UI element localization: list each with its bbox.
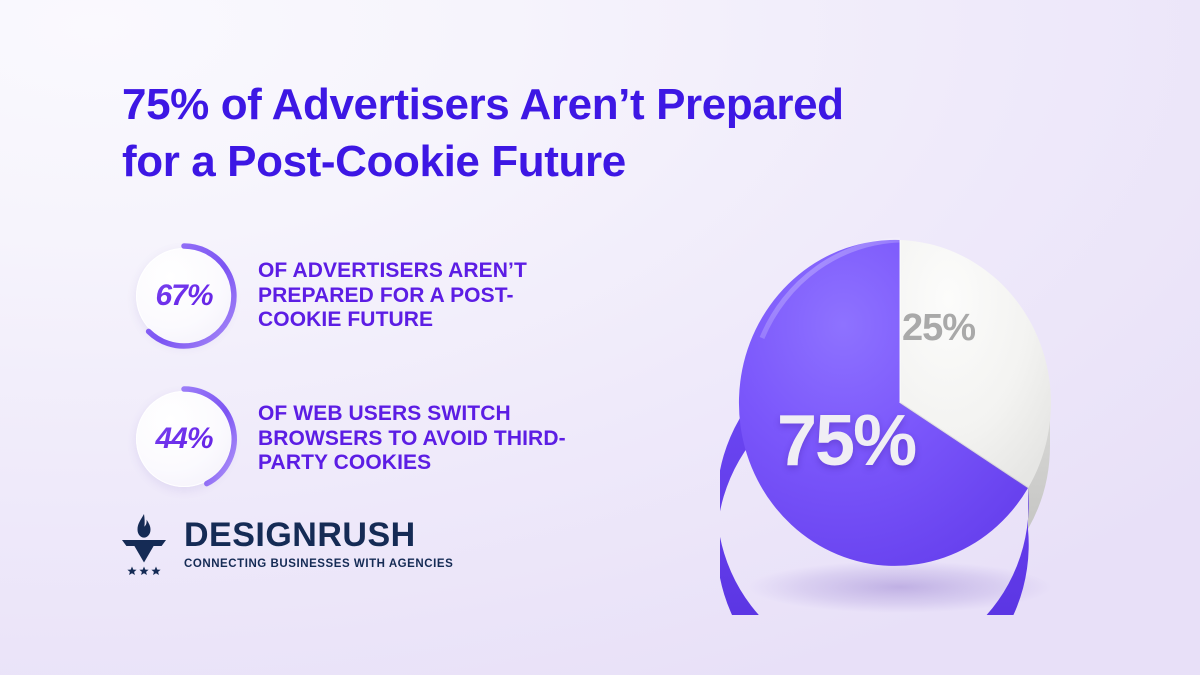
stat-row: 44% OF WEB USERS SWITCH BROWSERS TO AVOI… <box>128 383 588 495</box>
logo-tagline: CONNECTING BUSINESSES WITH AGENCIES <box>184 559 453 571</box>
stat-label: OF WEB USERS SWITCH BROWSERS TO AVOID TH… <box>258 402 588 476</box>
logo-text-block: DESIGNRUSH CONNECTING BUSINESSES WITH AG… <box>184 518 453 571</box>
title-line-2: for a Post-Cookie Future <box>122 133 1062 190</box>
torch-flame-chevron-icon <box>116 512 172 576</box>
stat-value: 67% <box>128 240 240 352</box>
stat-dial-44: 44% <box>128 383 240 495</box>
pie-chart-graphic <box>720 215 1100 615</box>
stat-value: 44% <box>128 383 240 495</box>
stat-row: 67% OF ADVERTISERS AREN’T PREPARED FOR A… <box>128 240 588 352</box>
designrush-logo: DESIGNRUSH CONNECTING BUSINESSES WITH AG… <box>116 512 453 576</box>
page-title: 75% of Advertisers Aren’t Prepared for a… <box>122 76 1062 190</box>
infographic-canvas: 75% of Advertisers Aren’t Prepared for a… <box>0 0 1200 675</box>
logo-wordmark: DESIGNRUSH <box>184 518 453 552</box>
title-line-1: 75% of Advertisers Aren’t Prepared <box>122 76 1062 133</box>
pie-chart: 75% 25% <box>720 215 1100 615</box>
stat-dial-67: 67% <box>128 240 240 352</box>
stat-label: OF ADVERTISERS AREN’T PREPARED FOR A POS… <box>258 259 588 333</box>
